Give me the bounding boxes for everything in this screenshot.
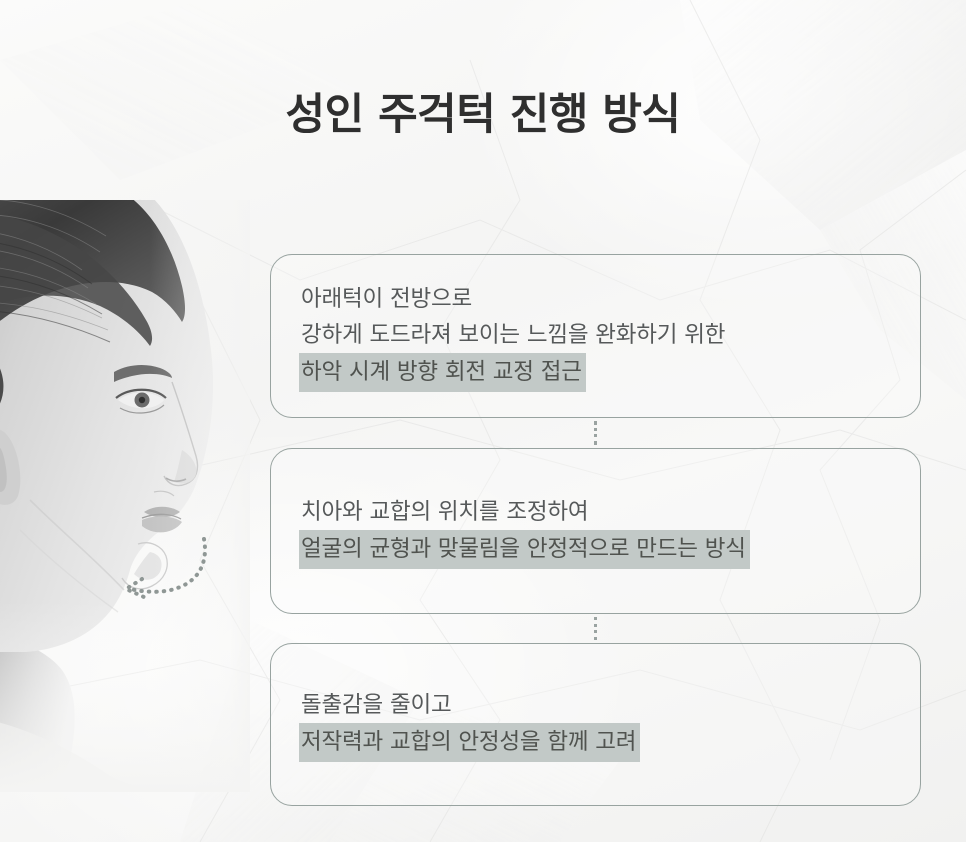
connector-dotted-2 [594, 617, 597, 640]
step-1-line-1: 아래턱이 전방으로 [301, 281, 890, 317]
step-box-3: 돌출감을 줄이고 저작력과 교합의 안정성을 함께 고려 [270, 643, 921, 806]
profile-photo [0, 200, 250, 792]
step-2-line-2-highlight: 얼굴의 균형과 맞물림을 안정적으로 만드는 방식 [299, 530, 750, 569]
step-box-1: 아래턱이 전방으로 강하게 도드라져 보이는 느낌을 완화하기 위한 하악 시계… [270, 254, 921, 418]
step-2-line-1: 치아와 교합의 위치를 조정하여 [301, 494, 890, 530]
step-3-line-1: 돌출감을 줄이고 [301, 687, 890, 723]
step-1-line-3-highlight: 하악 시계 방향 회전 교정 접근 [299, 353, 586, 392]
step-3-line-2-highlight: 저작력과 교합의 안정성을 함께 고려 [299, 723, 640, 762]
connector-dotted-1 [594, 421, 597, 445]
step-1-line-2: 강하게 도드라져 보이는 느낌을 완화하기 위한 [301, 317, 890, 353]
page-title: 성인 주걱턱 진행 방식 [0, 92, 966, 139]
step-box-2: 치아와 교합의 위치를 조정하여 얼굴의 균형과 맞물림을 안정적으로 만드는 … [270, 448, 921, 614]
